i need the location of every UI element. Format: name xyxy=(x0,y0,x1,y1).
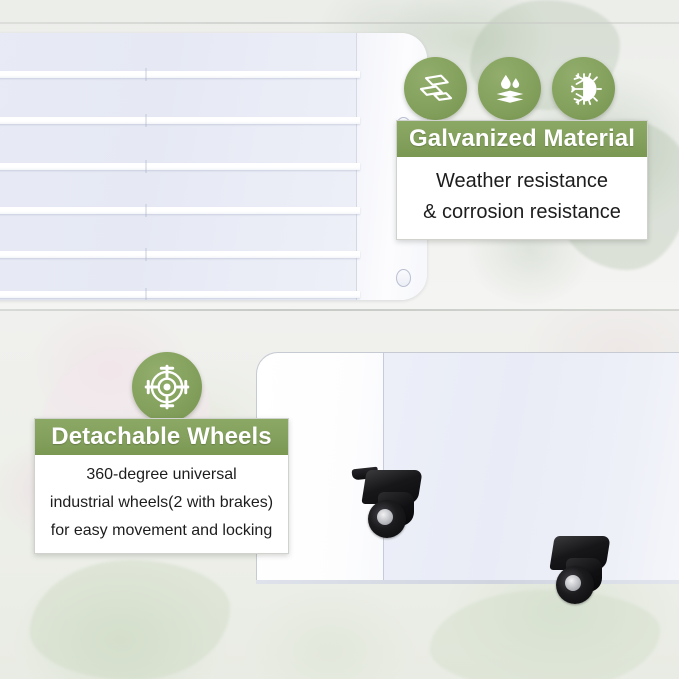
caster-hubcap xyxy=(565,575,581,591)
galvanized-card-title: Galvanized Material xyxy=(397,121,647,157)
wheels-card-title: Detachable Wheels xyxy=(35,419,288,455)
wheels-line-3: for easy movement and locking xyxy=(51,521,272,542)
wheels-icon-row xyxy=(132,352,202,422)
louvered-door-panel xyxy=(0,33,427,300)
louver-slat xyxy=(0,71,360,78)
galvanized-card: Galvanized Material Weather resistance &… xyxy=(396,120,648,240)
cabinet-bottom-edge xyxy=(256,580,679,584)
sun-snowflake-icon xyxy=(552,57,615,120)
metal-ingots-icon xyxy=(404,57,467,120)
wheels-card: Detachable Wheels 360-degree universal i… xyxy=(34,418,289,554)
scene-divider xyxy=(0,309,679,311)
louver-slat xyxy=(0,291,360,298)
water-droplets-layers-icon xyxy=(478,57,541,120)
galvanized-material-callout: Galvanized Material Weather resistance &… xyxy=(396,57,648,240)
cabinet-side-face xyxy=(384,352,679,584)
door-hinge-icon xyxy=(396,269,411,287)
galvanized-line-2: & corrosion resistance xyxy=(423,200,621,225)
galvanized-line-1: Weather resistance xyxy=(436,169,608,194)
louver-slat xyxy=(0,251,360,258)
caster-hubcap xyxy=(377,509,393,525)
cabinet-corner-edge xyxy=(383,353,384,584)
scene-divider-top xyxy=(0,22,679,24)
louver-slat xyxy=(0,163,360,170)
louver-slat xyxy=(0,207,360,214)
louver-slat xyxy=(0,117,360,124)
storage-cabinet-body xyxy=(256,352,679,584)
detachable-wheels-callout: Detachable Wheels 360-degree universal i… xyxy=(34,352,289,554)
caster-wheel-target-icon xyxy=(132,352,202,422)
wheels-line-1: 360-degree universal xyxy=(86,465,236,486)
infographic-canvas: Galvanized Material Weather resistance &… xyxy=(0,0,679,679)
wheels-card-body: 360-degree universal industrial wheels(2… xyxy=(35,455,288,553)
galvanized-card-body: Weather resistance & corrosion resistanc… xyxy=(397,157,647,239)
wheels-line-2: industrial wheels(2 with brakes) xyxy=(50,493,273,514)
galvanized-icon-row xyxy=(404,57,615,120)
